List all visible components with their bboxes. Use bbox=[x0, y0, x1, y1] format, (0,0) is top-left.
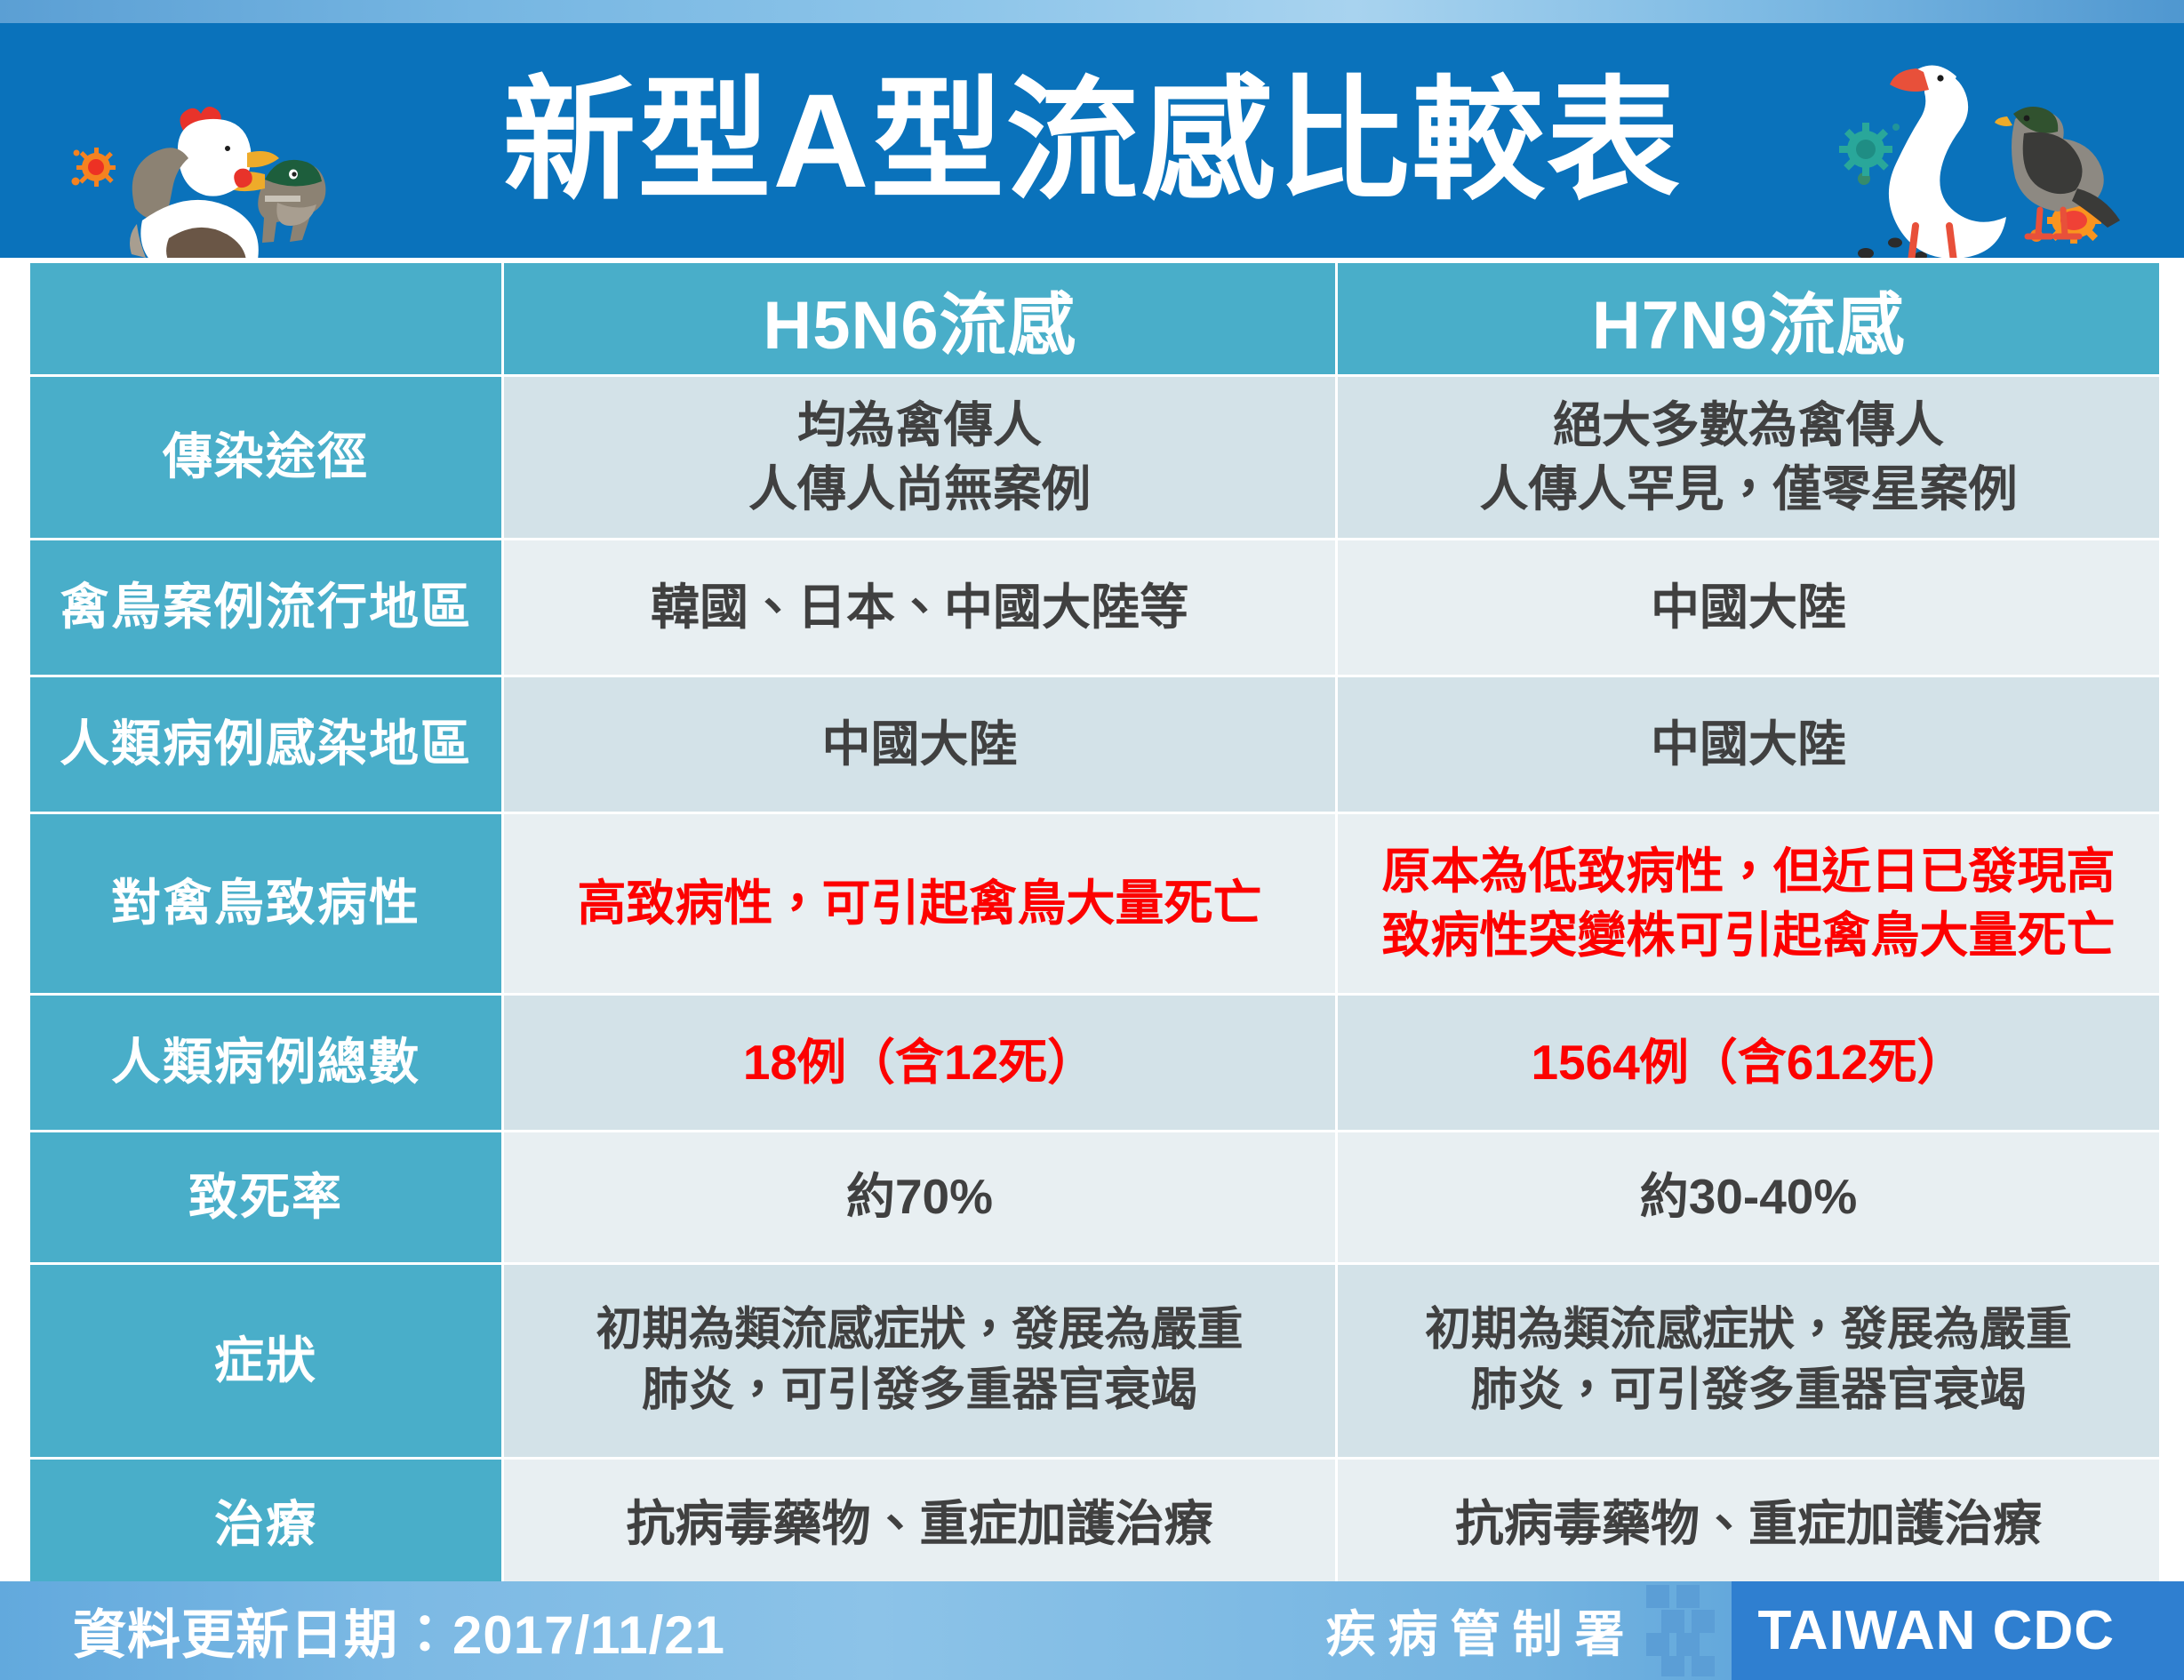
column-header-h7n9: H7N9流感 bbox=[1338, 263, 2159, 374]
row-label-symptoms: 症狀 bbox=[30, 1265, 501, 1457]
cell-h5n6-symptoms: 初期為類流感症狀，發展為嚴重肺炎，可引發多重器官衰竭 bbox=[504, 1265, 1335, 1457]
cell-h5n6-treatment: 抗病毒藥物、重症加護治療 bbox=[504, 1460, 1335, 1589]
column-header-h5n6: H5N6流感 bbox=[504, 263, 1335, 374]
checkerboard-logo-icon bbox=[1646, 1581, 1732, 1680]
table-row: 對禽鳥致病性 高致病性，可引起禽鳥大量死亡 原本為低致病性，但近日已發現高致病性… bbox=[30, 814, 2159, 993]
table-header-blank-cell bbox=[30, 263, 501, 374]
table-row: 禽鳥案例流行地區 韓國、日本、中國大陸等 中國大陸 bbox=[30, 540, 2159, 675]
cell-h5n6-bird-pathogenicity: 高致病性，可引起禽鳥大量死亡 bbox=[504, 814, 1335, 993]
cell-h5n6-transmission: 均為禽傳人人傳人尚無案例 bbox=[504, 377, 1335, 538]
table-row: 人類病例感染地區 中國大陸 中國大陸 bbox=[30, 677, 2159, 812]
row-label-treatment: 治療 bbox=[30, 1460, 501, 1589]
cell-h7n9-bird-pathogenicity: 原本為低致病性，但近日已發現高致病性突變株可引起禽鳥大量死亡 bbox=[1338, 814, 2159, 993]
table-row: 致死率 約70% 約30-40% bbox=[30, 1132, 2159, 1262]
comparison-table: H5N6流感 H7N9流感 傳染途徑 均為禽傳人人傳人尚無案例 絕大多數為禽傳人… bbox=[28, 260, 2162, 1592]
table-header-row: H5N6流感 H7N9流感 bbox=[30, 263, 2159, 374]
infographic-poster: 新型A型流感比較表 bbox=[0, 0, 2184, 1680]
row-label-bird-regions: 禽鳥案例流行地區 bbox=[30, 540, 501, 675]
row-label-transmission: 傳染途徑 bbox=[30, 377, 501, 538]
table-row: 傳染途徑 均為禽傳人人傳人尚無案例 絕大多數為禽傳人人傳人罕見，僅零星案例 bbox=[30, 377, 2159, 538]
cell-h7n9-bird-regions: 中國大陸 bbox=[1338, 540, 2159, 675]
cell-h5n6-human-regions: 中國大陸 bbox=[504, 677, 1335, 812]
header-art-right bbox=[1811, 41, 2166, 258]
brand-name-chinese: 疾病管制署 bbox=[1326, 1595, 1646, 1667]
cell-h7n9-total-human-cases: 1564例（含612死） bbox=[1338, 996, 2159, 1130]
cell-h5n6-total-human-cases: 18例（含12死） bbox=[504, 996, 1335, 1130]
row-label-bird-pathogenicity: 對禽鳥致病性 bbox=[30, 814, 501, 993]
row-label-human-regions: 人類病例感染地區 bbox=[30, 677, 501, 812]
cell-h7n9-transmission: 絕大多數為禽傳人人傳人罕見，僅零星案例 bbox=[1338, 377, 2159, 538]
cell-h5n6-bird-regions: 韓國、日本、中國大陸等 bbox=[504, 540, 1335, 675]
data-update-date: 資料更新日期：2017/11/21 bbox=[73, 1592, 725, 1669]
table-row: 症狀 初期為類流感症狀，發展為嚴重肺炎，可引發多重器官衰竭 初期為類流感症狀，發… bbox=[30, 1265, 2159, 1457]
goose-illustration bbox=[1889, 66, 2006, 259]
row-label-fatality-rate: 致死率 bbox=[30, 1132, 501, 1262]
cell-h5n6-fatality-rate: 約70% bbox=[504, 1132, 1335, 1262]
row-label-total-human-cases: 人類病例總數 bbox=[30, 996, 501, 1130]
taiwan-cdc-logo: 疾病管制署 TAIWAN CDC bbox=[1326, 1581, 2184, 1680]
table-row: 人類病例總數 18例（含12死） 1564例（含612死） bbox=[30, 996, 2159, 1130]
table-row: 治療 抗病毒藥物、重症加護治療 抗病毒藥物、重症加護治療 bbox=[30, 1460, 2159, 1589]
cell-h7n9-symptoms: 初期為類流感症狀，發展為嚴重肺炎，可引發多重器官衰竭 bbox=[1338, 1265, 2159, 1457]
cell-h7n9-human-regions: 中國大陸 bbox=[1338, 677, 2159, 812]
cell-h7n9-fatality-rate: 約30-40% bbox=[1338, 1132, 2159, 1262]
header-banner: 新型A型流感比較表 bbox=[0, 23, 2184, 258]
cell-h7n9-treatment: 抗病毒藥物、重症加護治療 bbox=[1338, 1460, 2159, 1589]
brand-name-english: TAIWAN CDC bbox=[1732, 1581, 2184, 1680]
footer-bar: 資料更新日期：2017/11/21 疾病管制署 TAIWAN CDC bbox=[0, 1581, 2184, 1680]
top-gradient-strip bbox=[0, 0, 2184, 23]
